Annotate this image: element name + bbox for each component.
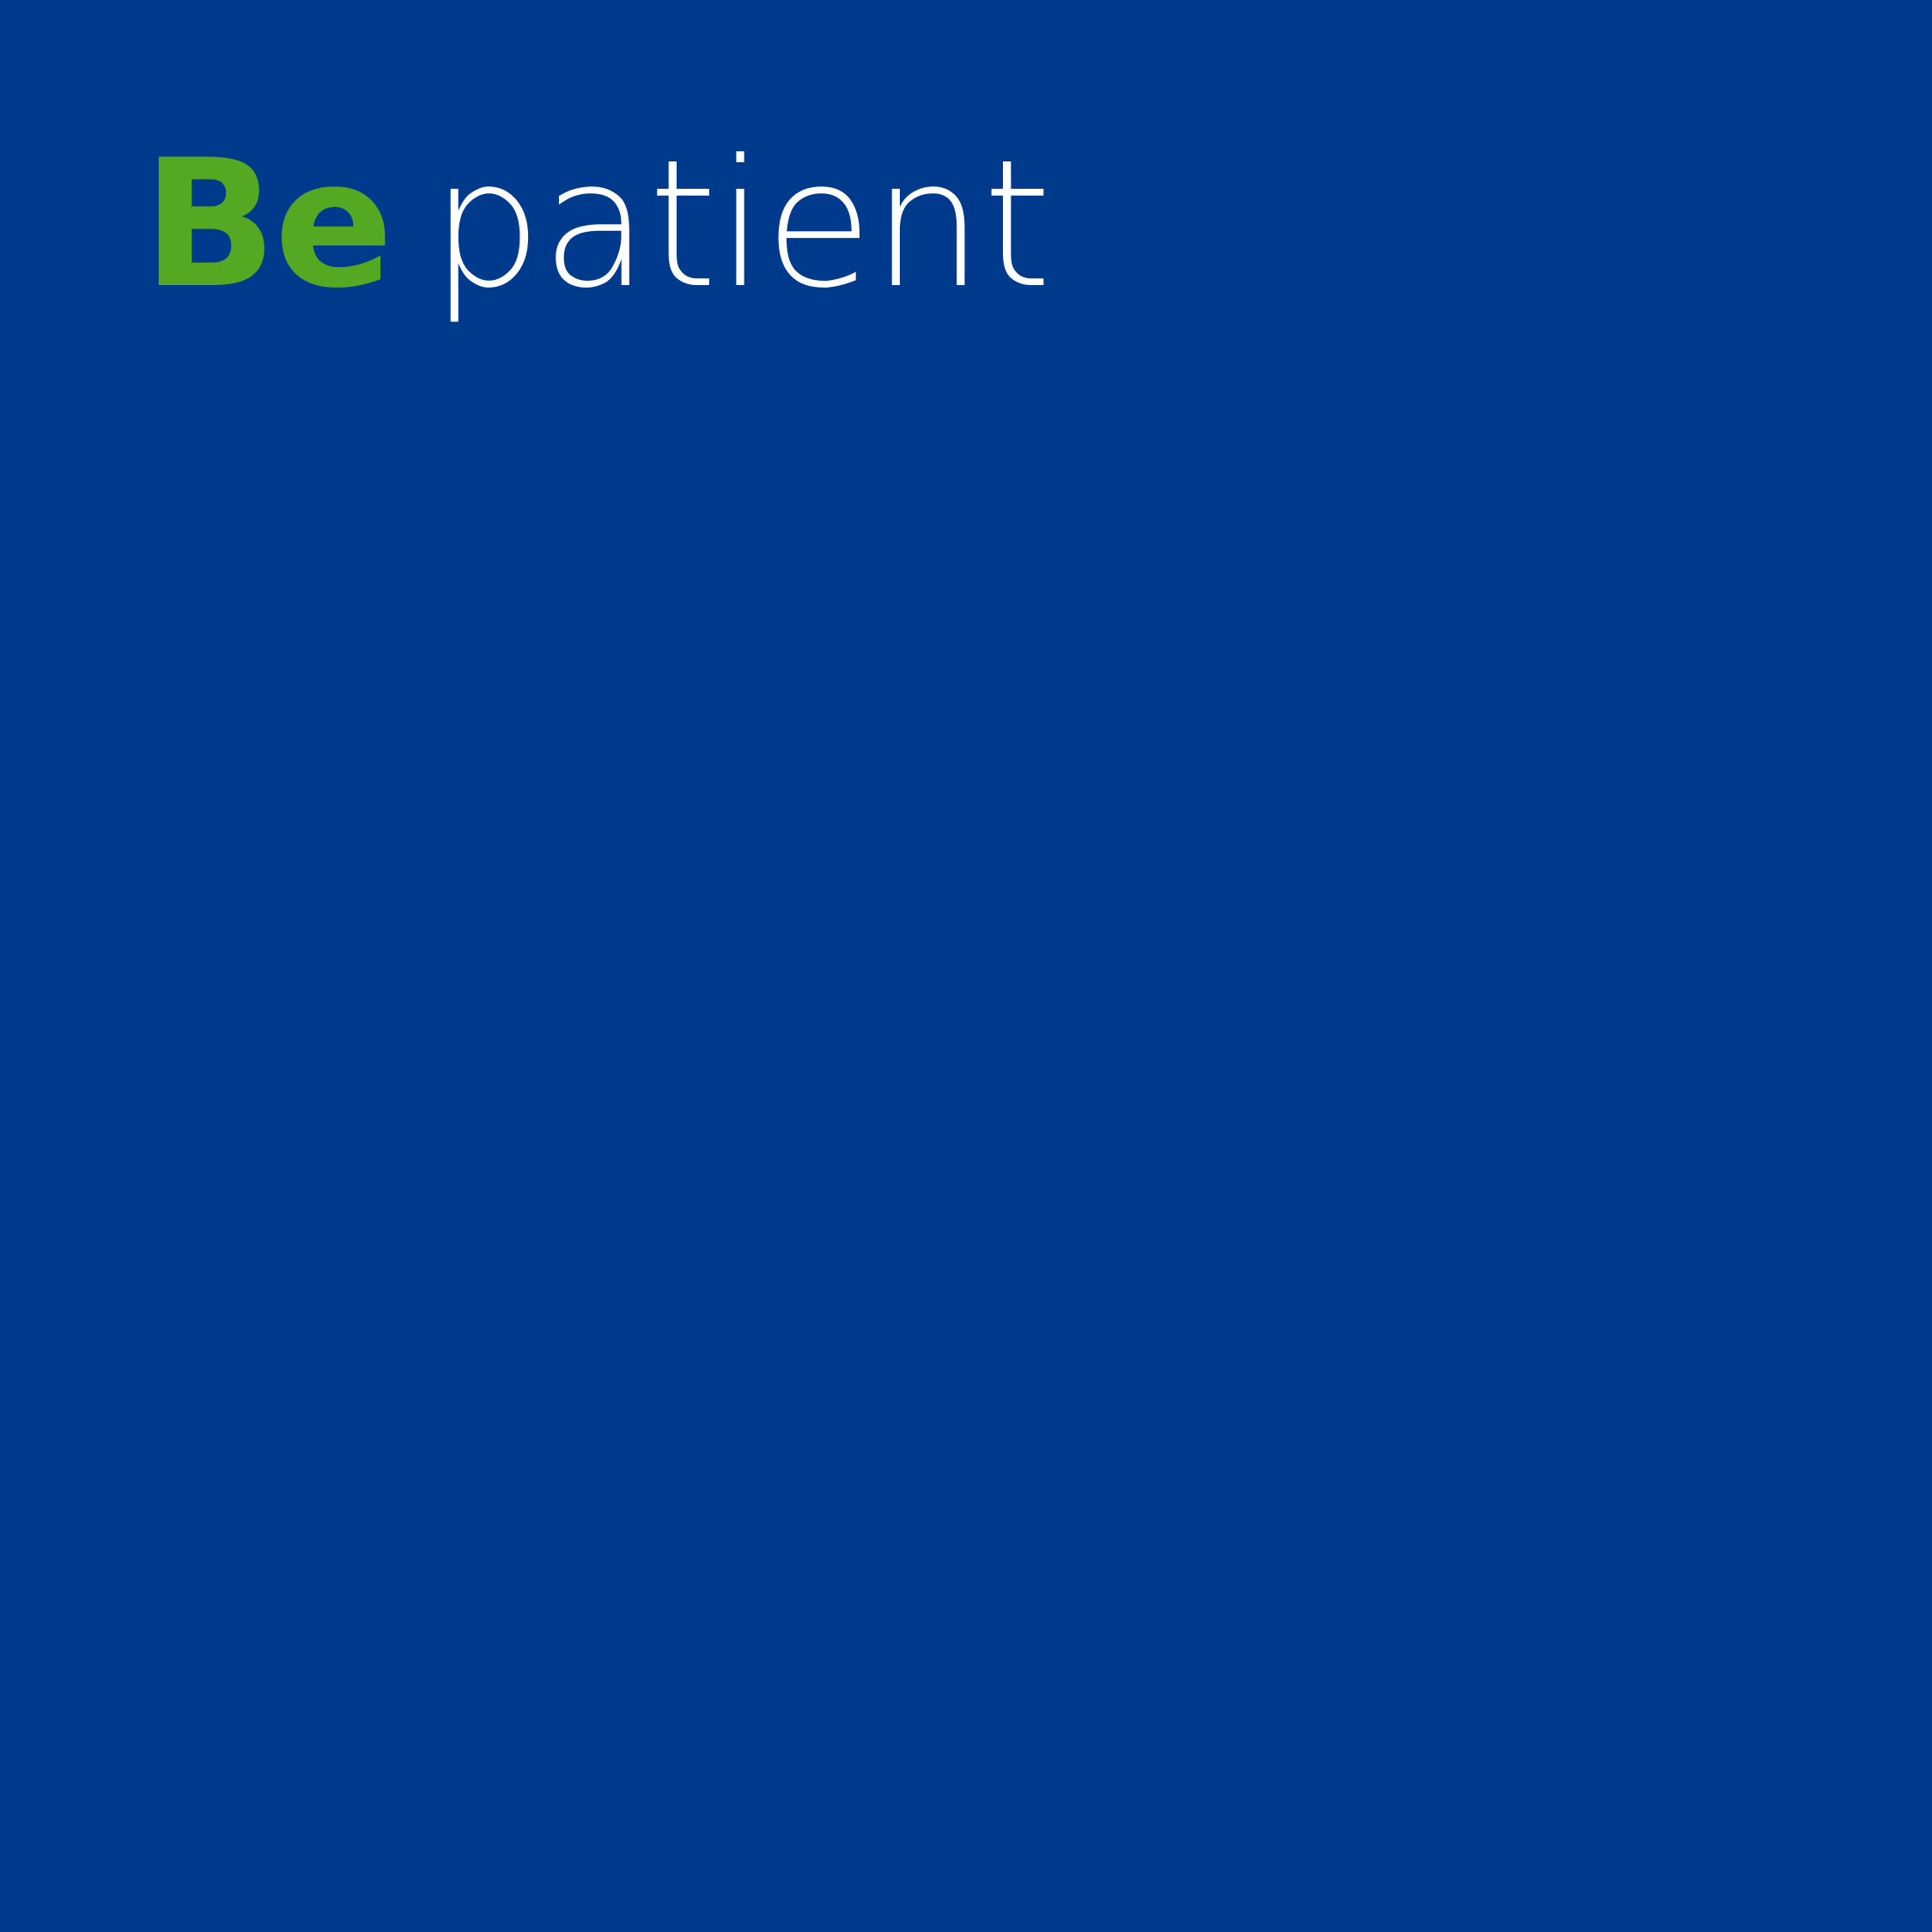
headline-main-word: patient: [430, 123, 1051, 327]
page-title: Bepatient: [143, 137, 1774, 313]
headline-accent-word: Be: [143, 123, 391, 327]
background-field: [0, 404, 1932, 1932]
slide-canvas: Bepatient: [0, 0, 1932, 1932]
